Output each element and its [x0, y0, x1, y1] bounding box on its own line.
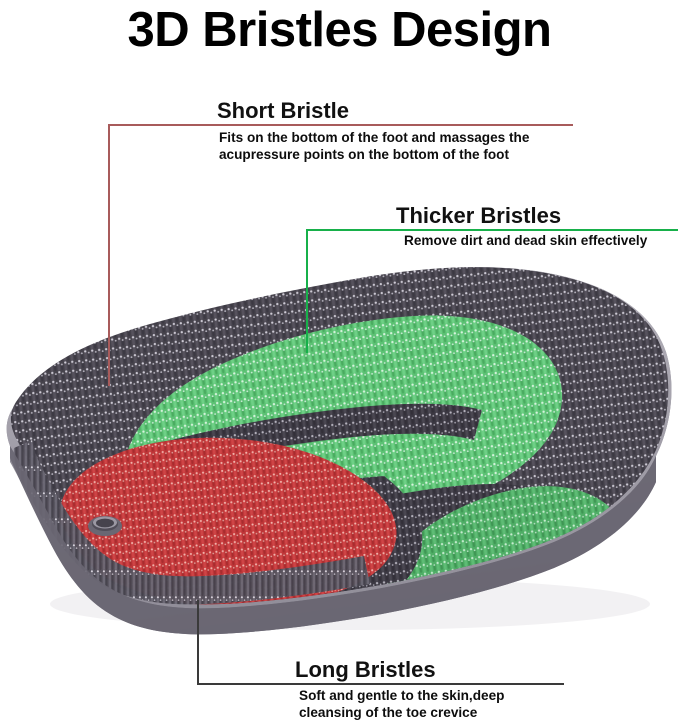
product-image [0, 232, 679, 652]
leader-line-horizontal-thicker-bristles [306, 229, 678, 231]
callout-body-short-bristle: Fits on the bottom of the foot and massa… [219, 129, 589, 163]
callout-body-thicker-bristles: Remove dirt and dead skin effectively [404, 232, 679, 249]
callout-heading-thicker-bristles: Thicker Bristles [396, 204, 561, 228]
leader-line-horizontal-long-bristles [197, 683, 564, 685]
hanging-hole [88, 516, 122, 536]
callout-body-line-1: Remove dirt and dead skin effectively [404, 232, 679, 249]
page-title: 3D Bristles Design [0, 2, 679, 58]
leader-line-vertical-long-bristles [197, 600, 199, 683]
callout-heading-long-bristles: Long Bristles [295, 658, 436, 682]
leader-line-vertical-thicker-bristles [306, 229, 308, 353]
callout-body-line-1: Fits on the bottom of the foot and massa… [219, 129, 589, 146]
leader-line-vertical-short-bristle [108, 124, 110, 386]
leader-line-horizontal-short-bristle [108, 124, 573, 126]
callout-body-line-2: acupressure points on the bottom of the … [219, 146, 589, 163]
callout-heading-short-bristle: Short Bristle [217, 99, 349, 123]
infographic-canvas: 3D Bristles Design [0, 0, 679, 720]
callout-body-line-2: cleansing of the toe crevice [299, 704, 599, 720]
callout-body-long-bristles: Soft and gentle to the skin,deep cleansi… [299, 687, 599, 720]
callout-body-line-1: Soft and gentle to the skin,deep [299, 687, 599, 704]
